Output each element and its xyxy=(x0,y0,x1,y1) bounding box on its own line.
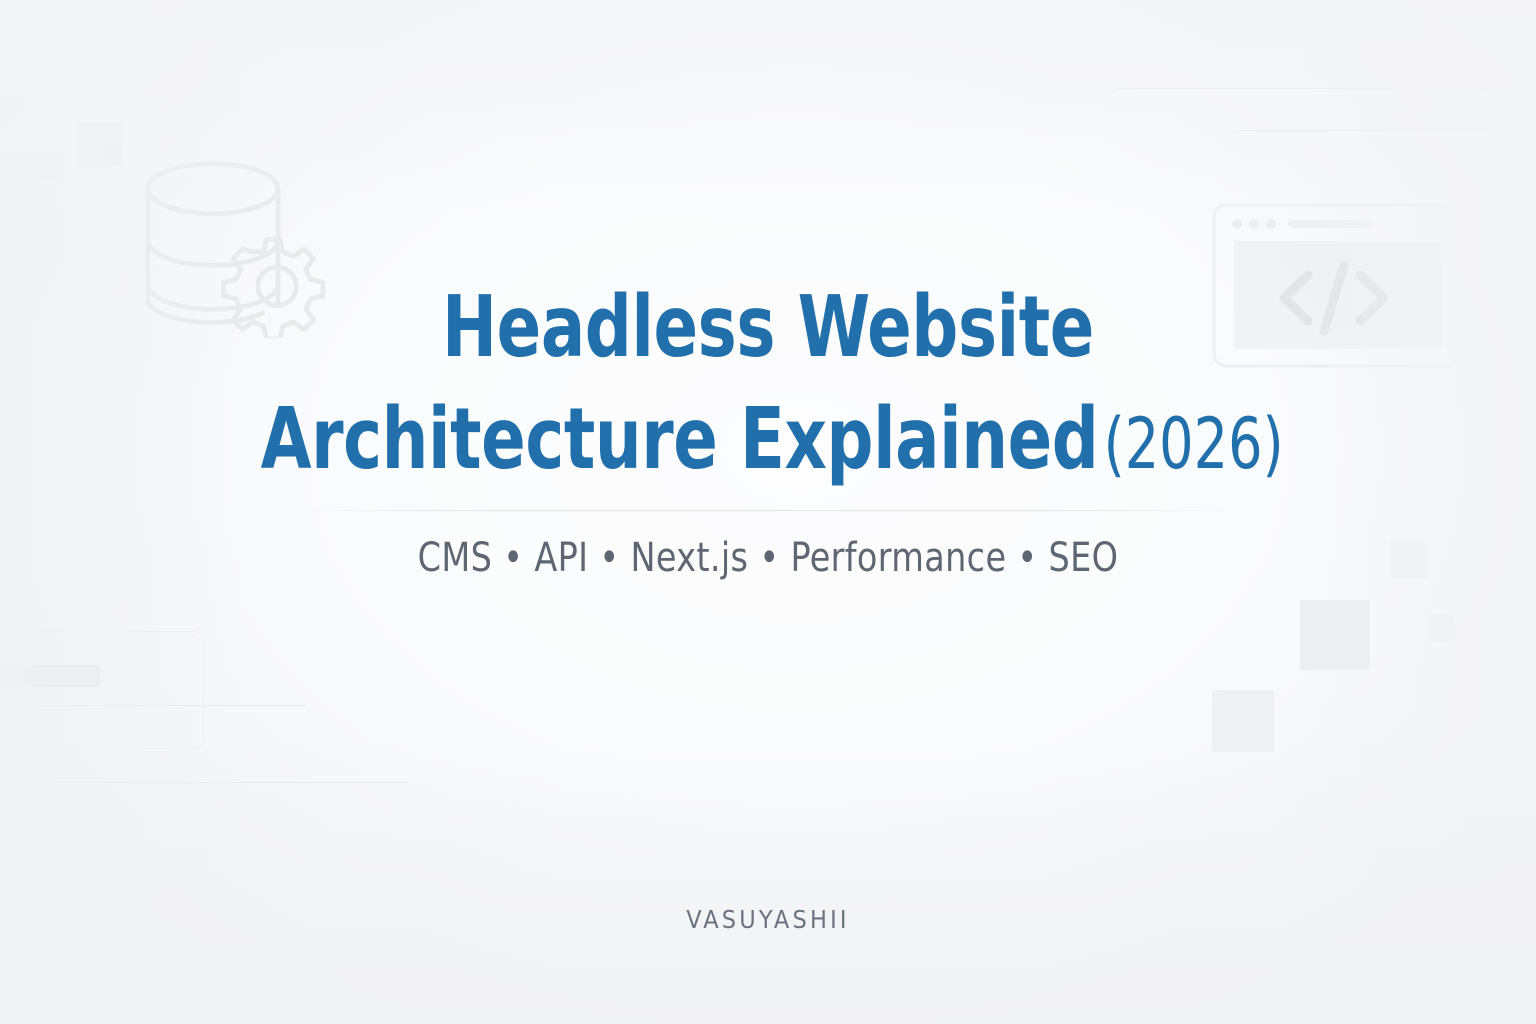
title-divider xyxy=(293,510,1243,511)
page-title: Headless Website Architecture Explained(… xyxy=(261,272,1276,496)
title-line-2: Architecture Explained(2026) xyxy=(261,384,1276,496)
slide-canvas: Headless Website Architecture Explained(… xyxy=(0,0,1536,1024)
footer-brand: VASUYASHII xyxy=(418,905,1118,934)
subtitle: CMS • API • Next.js • Performance • SEO xyxy=(257,535,1280,581)
title-year: (2026) xyxy=(1104,403,1284,485)
title-line-2-text: Architecture Explained xyxy=(261,390,1099,489)
title-line-1: Headless Website xyxy=(261,272,1276,384)
slide-content: Headless Website Architecture Explained(… xyxy=(0,0,1536,1024)
title-block: Headless Website Architecture Explained(… xyxy=(178,272,1358,496)
